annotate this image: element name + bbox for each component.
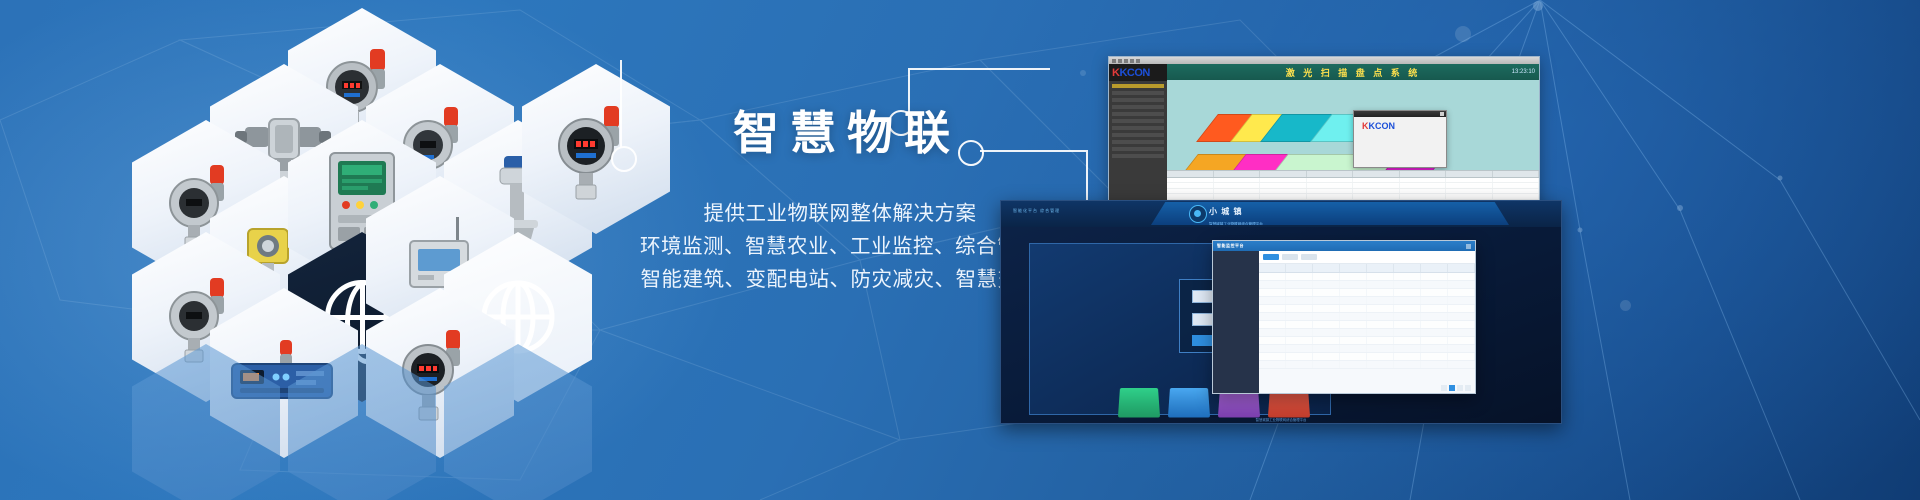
sidebar-menu[interactable]	[1109, 81, 1167, 164]
laser-scan-window[interactable]: KKCON	[1108, 56, 1540, 218]
menu-item[interactable]	[1112, 119, 1164, 123]
close-icon[interactable]	[1440, 112, 1444, 116]
clock-display: 13:23:10	[1512, 69, 1535, 75]
laser-window-title: 激 光 扫 描 盘 点 系 统	[1286, 66, 1421, 79]
subtitle-line-3: 智能建筑、变配电站、防灾减灾、智慧交通	[640, 263, 1040, 296]
logo-kcon: KCON	[1119, 67, 1149, 79]
table-row[interactable]	[1259, 313, 1475, 321]
menu-item[interactable]	[1112, 147, 1164, 151]
subtitle-line-1: 提供工业物联网整体解决方案	[640, 197, 1040, 230]
dashboard-header: 智能化平台 综合管理 小 城 镇 智慧城镇工业物联网综合管理平台	[1001, 201, 1561, 227]
dashboard-subtitle-left: 智能化平台 综合管理	[1013, 208, 1060, 214]
laser-sidebar[interactable]: KKCON	[1109, 64, 1167, 217]
menu-item[interactable]	[1112, 98, 1164, 102]
table-row[interactable]	[1259, 353, 1475, 361]
table-row[interactable]	[1259, 329, 1475, 337]
table-row[interactable]	[1259, 281, 1475, 289]
logo-kcon: KCON	[1369, 121, 1396, 131]
menu-item[interactable]	[1112, 133, 1164, 137]
menu-item[interactable]	[1112, 140, 1164, 144]
product-hex-cluster	[60, 0, 660, 500]
menu-item[interactable]	[1112, 91, 1164, 95]
digital-gas-detector-icon	[548, 94, 644, 204]
table-row[interactable]	[1259, 361, 1475, 369]
banner-copy: 智慧物联 提供工业物联网整体解决方案 环境监测、智慧农业、工业监控、综合管廊、 …	[640, 108, 1040, 296]
page-2[interactable]	[1457, 385, 1463, 391]
dashboard-footer: 智慧城镇工业物联网综合管理平台	[1001, 417, 1561, 422]
toolbar-button[interactable]	[1301, 254, 1317, 260]
page-title: 智慧物联	[654, 108, 1040, 159]
laser-header: 激 光 扫 描 盘 点 系 统 13:23:10	[1167, 64, 1539, 80]
about-logo: KKCON	[1354, 117, 1446, 133]
zone-map-canvas[interactable]: KKCON	[1167, 80, 1539, 170]
page-1[interactable]	[1449, 385, 1455, 391]
software-screenshots: KKCON	[1000, 50, 1920, 430]
close-icon[interactable]	[1466, 244, 1471, 249]
kkcon-logo: KKCON	[1109, 64, 1167, 81]
table-header	[1259, 264, 1475, 273]
table-row[interactable]	[1259, 297, 1475, 305]
data-management-window[interactable]: 智能监控平台	[1212, 240, 1476, 394]
table-row[interactable]	[1259, 345, 1475, 353]
page-next[interactable]	[1465, 385, 1471, 391]
about-dialog[interactable]: KKCON	[1353, 110, 1447, 168]
window-titlebar: 智能监控平台	[1213, 241, 1475, 251]
dashboard-footer-en: 智慧城镇工业物联网综合管理平台	[1209, 222, 1263, 227]
module-card[interactable]	[1118, 388, 1160, 417]
page-prev[interactable]	[1441, 385, 1447, 391]
table-row[interactable]	[1259, 337, 1475, 345]
data-window-title: 智能监控平台	[1217, 243, 1244, 249]
logo-k: K	[1112, 67, 1119, 79]
banner-subtitle: 提供工业物联网整体解决方案 环境监测、智慧农业、工业监控、综合管廊、 智能建筑、…	[640, 197, 1040, 296]
pagination[interactable]	[1259, 382, 1475, 393]
module-card[interactable]	[1168, 388, 1210, 417]
menu-item[interactable]	[1112, 154, 1164, 158]
menu-item[interactable]	[1112, 126, 1164, 130]
subtitle-line-2: 环境监测、智慧农业、工业监控、综合管廊、	[640, 230, 1040, 263]
connector-line	[908, 68, 910, 112]
table-row[interactable]	[1259, 273, 1475, 281]
data-sidebar[interactable]	[1213, 251, 1259, 393]
toolbar-button[interactable]	[1282, 254, 1298, 260]
data-toolbar[interactable]	[1259, 251, 1475, 264]
dashboard-logo-icon	[1189, 205, 1207, 223]
bokeh-dot	[1455, 26, 1471, 42]
table-row[interactable]	[1259, 289, 1475, 297]
dashboard-title: 小 城 镇	[1209, 207, 1242, 216]
window-titlebar	[1109, 57, 1539, 64]
toolbar-button[interactable]	[1263, 254, 1279, 260]
menu-item[interactable]	[1112, 84, 1164, 88]
hero-banner: 智慧物联 提供工业物联网整体解决方案 环境监测、智慧农业、工业监控、综合管廊、 …	[0, 0, 1920, 500]
table-row[interactable]	[1259, 321, 1475, 329]
table-row[interactable]	[1259, 305, 1475, 313]
menu-item[interactable]	[1112, 112, 1164, 116]
menu-item[interactable]	[1112, 105, 1164, 109]
